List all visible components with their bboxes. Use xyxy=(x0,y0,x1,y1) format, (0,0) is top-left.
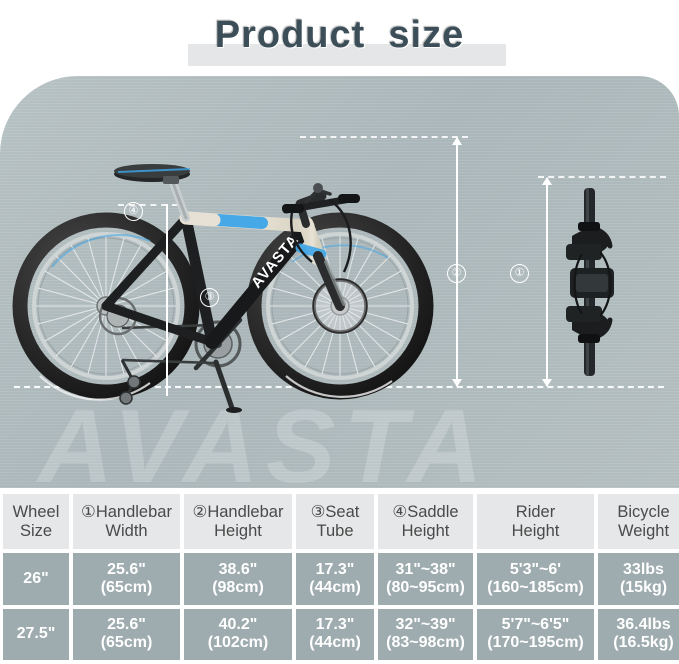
table-row: 27.5" 25.6" (65cm) 40.2" (102cm) 17.3" (… xyxy=(3,609,676,660)
column-header-bicycle-weight: Bicycle Weight xyxy=(598,494,679,549)
column-header-saddle-height: ④Saddle Height xyxy=(378,494,473,549)
bicycle-side-view-illustration: AVASTA xyxy=(0,76,679,488)
cell-bicycle-weight: 36.4lbs (16.5kg) xyxy=(598,609,679,660)
folded-handlebar-height-dimension-arrow xyxy=(546,178,548,386)
saddle-height-guideline xyxy=(166,204,168,396)
cell-seat-tube: 17.3" (44cm) xyxy=(296,609,374,660)
page-title: Product size xyxy=(215,14,465,63)
cell-saddle-height: 32"~39" (83~98cm) xyxy=(378,609,473,660)
cell-bicycle-weight: 33lbs (15kg) xyxy=(598,553,679,604)
callout-3-seat-tube: ③ xyxy=(200,288,219,307)
cell-handlebar-width: 25.6" (65cm) xyxy=(73,553,180,604)
column-header-wheel-size: Wheel Size xyxy=(3,494,69,549)
cell-wheel-size: 27.5" xyxy=(3,609,69,660)
callout-4-saddle-height: ④ xyxy=(124,202,143,221)
column-header-handlebar-width: ①Handlebar Width xyxy=(73,494,180,549)
page-title-area: Product size xyxy=(0,0,679,76)
cell-saddle-height: 31"~38" (80~95cm) xyxy=(378,553,473,604)
column-header-rider-height: Rider Height xyxy=(477,494,594,549)
cell-rider-height: 5'3"~6' (160~185cm) xyxy=(477,553,594,604)
cell-wheel-size: 26" xyxy=(3,553,69,604)
callout-2-handlebar-height: ② xyxy=(447,264,466,283)
cell-handlebar-height: 40.2" (102cm) xyxy=(184,609,292,660)
table-row: 26" 25.6" (65cm) 38.6" (98cm) 17.3" (44c… xyxy=(3,553,676,604)
handlebar-height-dimension-arrow xyxy=(456,138,458,386)
cell-seat-tube: 17.3" (44cm) xyxy=(296,553,374,604)
column-header-seat-tube: ③Seat Tube xyxy=(296,494,374,549)
cell-handlebar-height: 38.6" (98cm) xyxy=(184,553,292,604)
kickstand-foot xyxy=(226,407,242,413)
table-header-row: Wheel Size ①Handlebar Width ②Handlebar H… xyxy=(3,494,676,549)
column-header-handlebar-height: ②Handlebar Height xyxy=(184,494,292,549)
kickstand xyxy=(216,362,232,408)
bicycle-frame: AVASTA xyxy=(106,218,344,342)
handlebar-front-view xyxy=(566,188,614,376)
callout-1-handlebar-height: ① xyxy=(510,264,529,283)
cell-handlebar-width: 25.6" (65cm) xyxy=(73,609,180,660)
cell-rider-height: 5'7"~6'5" (170~195cm) xyxy=(477,609,594,660)
product-size-page: Product size AVASTA xyxy=(0,0,679,664)
product-diagram-panel: AVASTA xyxy=(0,76,679,488)
product-size-table: Wheel Size ①Handlebar Width ②Handlebar H… xyxy=(0,492,679,664)
